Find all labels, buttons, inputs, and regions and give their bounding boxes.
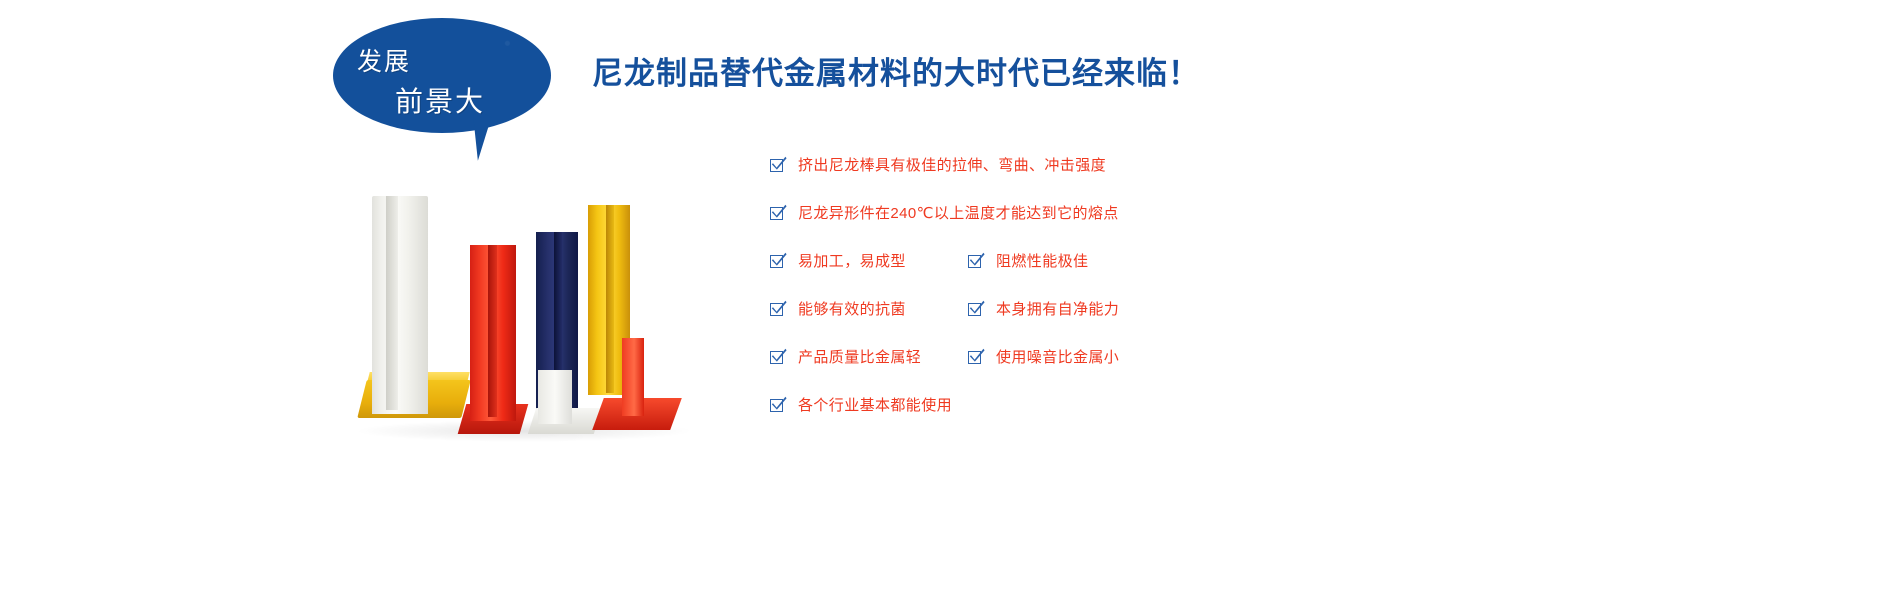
red-l-profile-wall — [622, 338, 644, 416]
feature-item-label: 挤出尼龙棒具有极佳的拉伸、弯曲、冲击强度 — [798, 158, 1106, 173]
feature-item-label: 产品质量比金属轻 — [798, 350, 921, 365]
promo-banner: 发展 前景大 尼龙制品替代金属材料的大时代已经来临！ 挤出尼龙棒具有极佳的拉伸、… — [0, 0, 1902, 592]
checkbox-checked-icon — [770, 302, 785, 317]
headline-text: 尼龙制品替代金属材料的大时代已经来临！ — [592, 55, 1200, 92]
feature-item: 挤出尼龙棒具有极佳的拉伸、弯曲、冲击强度 — [770, 158, 1106, 173]
feature-item-label: 各个行业基本都能使用 — [798, 398, 952, 413]
feature-item: 阻燃性能极佳 — [968, 254, 1088, 269]
feature-item: 各个行业基本都能使用 — [770, 398, 952, 413]
feature-row: 尼龙异形件在240℃以上温度才能达到它的熔点 — [770, 206, 1410, 254]
feature-item: 能够有效的抗菌 — [770, 302, 906, 317]
feature-row: 挤出尼龙棒具有极佳的拉伸、弯曲、冲击强度 — [770, 158, 1410, 206]
white-u-profile-groove — [386, 196, 398, 410]
feature-item: 易加工，易成型 — [770, 254, 906, 269]
yellow-u-profile-tall-groove — [606, 205, 614, 393]
checkbox-checked-icon — [770, 158, 785, 173]
speech-bubble-line-1: 发展 — [357, 50, 411, 75]
feature-item: 使用噪音比金属小 — [968, 350, 1119, 365]
checkbox-checked-icon — [770, 254, 785, 269]
speech-bubble-line-2: 前景大 — [395, 88, 485, 116]
feature-item-label: 使用噪音比金属小 — [996, 350, 1119, 365]
feature-item: 产品质量比金属轻 — [770, 350, 921, 365]
white-u-profile-tall — [372, 196, 428, 414]
checkbox-checked-icon — [770, 206, 785, 221]
white-l-profile-wall — [538, 370, 572, 424]
feature-item: 尼龙异形件在240℃以上温度才能达到它的熔点 — [770, 206, 1119, 221]
feature-item-label: 易加工，易成型 — [798, 254, 906, 269]
feature-item-label: 本身拥有自净能力 — [996, 302, 1119, 317]
feature-row: 产品质量比金属轻使用噪音比金属小 — [770, 350, 1410, 398]
checkbox-checked-icon — [968, 302, 983, 317]
red-u-profile-groove — [488, 245, 497, 417]
checkbox-checked-icon — [968, 350, 983, 365]
feature-item-label: 阻燃性能极佳 — [996, 254, 1088, 269]
feature-row: 能够有效的抗菌本身拥有自净能力 — [770, 302, 1410, 350]
feature-item-label: 能够有效的抗菌 — [798, 302, 906, 317]
product-photo — [350, 190, 710, 458]
checkbox-checked-icon — [770, 398, 785, 413]
feature-row: 各个行业基本都能使用 — [770, 398, 1410, 446]
feature-row: 易加工，易成型阻燃性能极佳 — [770, 254, 1410, 302]
speech-bubble: 发展 前景大 — [333, 18, 551, 150]
checkbox-checked-icon — [968, 254, 983, 269]
feature-list: 挤出尼龙棒具有极佳的拉伸、弯曲、冲击强度尼龙异形件在240℃以上温度才能达到它的… — [770, 158, 1410, 446]
checkbox-checked-icon — [770, 350, 785, 365]
feature-item: 本身拥有自净能力 — [968, 302, 1119, 317]
feature-item-label: 尼龙异形件在240℃以上温度才能达到它的熔点 — [798, 206, 1119, 221]
